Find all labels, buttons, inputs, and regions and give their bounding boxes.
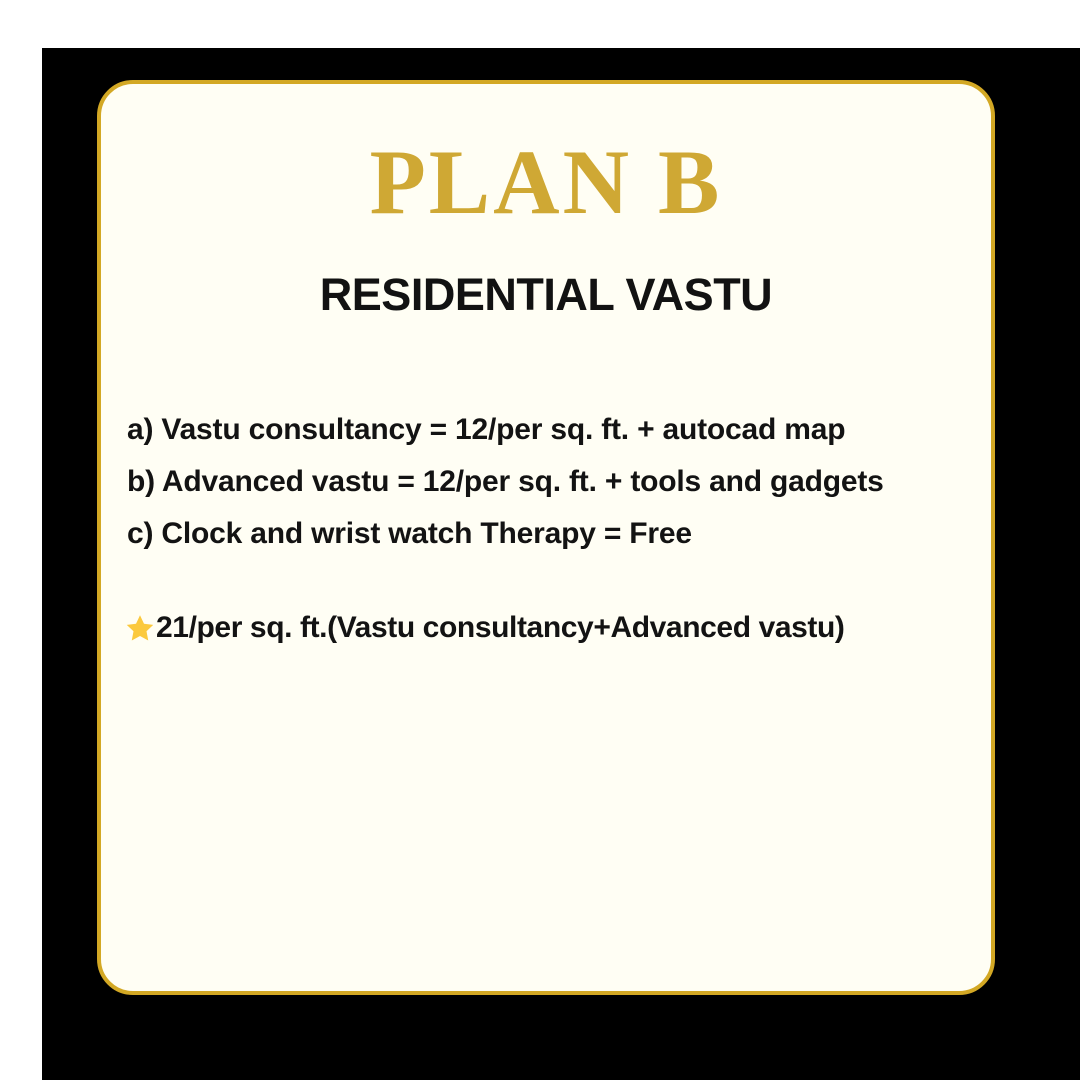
plan-card-content: PLAN B RESIDENTIAL VASTU a) Vastu consul… bbox=[101, 84, 991, 991]
plan-title: PLAN B bbox=[101, 136, 991, 228]
poster-canvas: PLAN B RESIDENTIAL VASTU a) Vastu consul… bbox=[0, 0, 1080, 1080]
bottom-left-white-notch bbox=[0, 1072, 42, 1080]
highlight-price-text: 21/per sq. ft.(Vastu consultancy+Advance… bbox=[156, 611, 845, 644]
plan-subtitle: RESIDENTIAL VASTU bbox=[101, 272, 991, 317]
star-icon bbox=[125, 613, 155, 643]
list-item: c) Clock and wrist watch Therapy = Free bbox=[127, 508, 971, 560]
top-right-white-notch bbox=[1022, 0, 1080, 48]
plan-card: PLAN B RESIDENTIAL VASTU a) Vastu consul… bbox=[97, 80, 995, 995]
highlight-price-row: 21/per sq. ft.(Vastu consultancy+Advance… bbox=[125, 611, 971, 644]
list-item: a) Vastu consultancy = 12/per sq. ft. + … bbox=[127, 404, 971, 456]
plan-feature-list: a) Vastu consultancy = 12/per sq. ft. + … bbox=[127, 404, 971, 560]
list-item: b) Advanced vastu = 12/per sq. ft. + too… bbox=[127, 456, 971, 508]
